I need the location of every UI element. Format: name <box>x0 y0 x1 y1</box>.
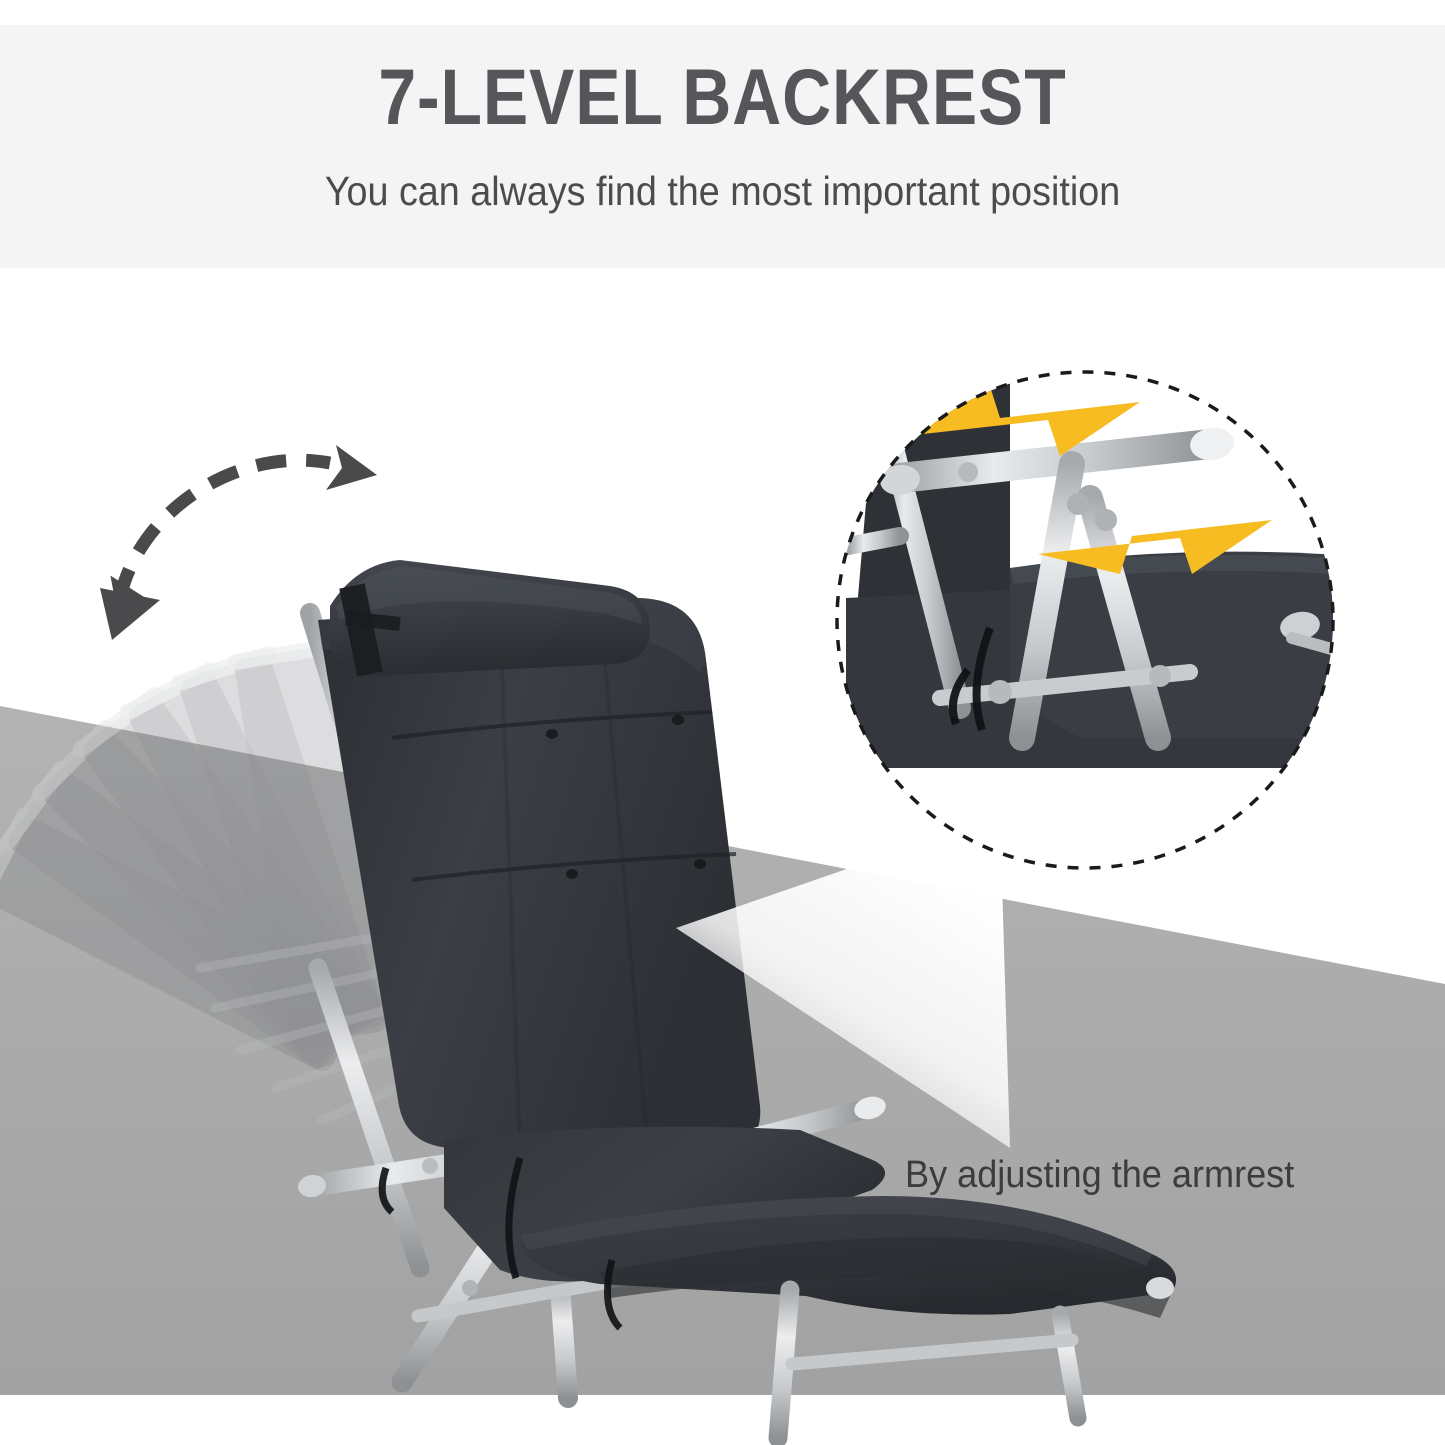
inset-caption: By adjusting the armrest <box>905 1153 1352 1199</box>
page-title: 7-LEVEL BACKREST <box>101 57 1344 136</box>
armrest-detail-inset <box>837 338 1445 868</box>
page-subtitle: You can always find the most important p… <box>58 167 1387 216</box>
headrest-pillow <box>330 560 650 676</box>
product-scene: By adjusting the armrest <box>0 268 1445 1445</box>
product-illustration <box>0 268 1445 1445</box>
infographic-page: 7-LEVEL BACKREST You can always find the… <box>0 0 1445 1445</box>
